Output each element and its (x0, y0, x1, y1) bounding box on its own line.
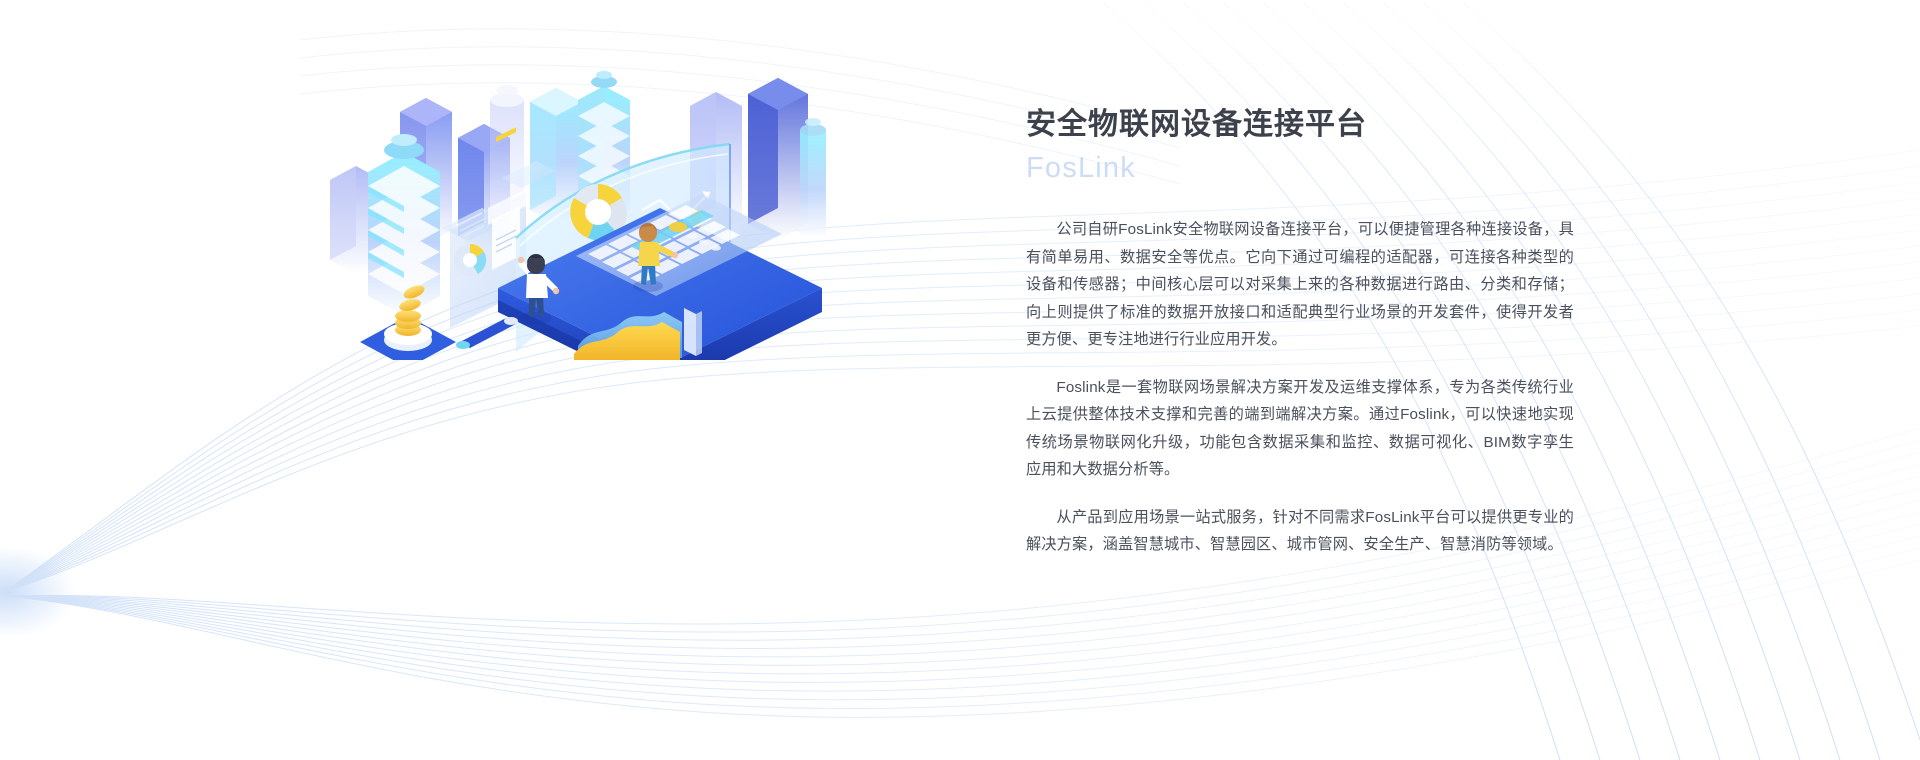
body-copy: 公司自研FosLink安全物联网设备连接平台，可以便捷管理各种连接设备，具有简单… (1026, 216, 1574, 559)
page-root: 安全物联网设备连接平台 FosLink 公司自研FosLink安全物联网设备连接… (0, 0, 1920, 760)
background-wave-decoration (0, 0, 1920, 760)
paragraph-platform-overview: 公司自研FosLink安全物联网设备连接平台，可以便捷管理各种连接设备，具有简单… (1026, 216, 1574, 354)
mini-donut-chart (454, 244, 486, 276)
product-name-subtitle: FosLink (1026, 148, 1574, 188)
connector-pipe (456, 317, 518, 349)
hero-illustration (330, 60, 850, 360)
paragraph-solution-system: Foslink是一套物联网场景解决方案开发及运维支撑体系，专为各类传统行业上云提… (1026, 374, 1574, 484)
page-title: 安全物联网设备连接平台 (1026, 104, 1574, 146)
paragraph-application-scenarios: 从产品到应用场景一站式服务，针对不同需求FosLink平台可以提供更专业的解决方… (1026, 504, 1574, 559)
hero-text-column: 安全物联网设备连接平台 FosLink 公司自研FosLink安全物联网设备连接… (1026, 104, 1574, 559)
